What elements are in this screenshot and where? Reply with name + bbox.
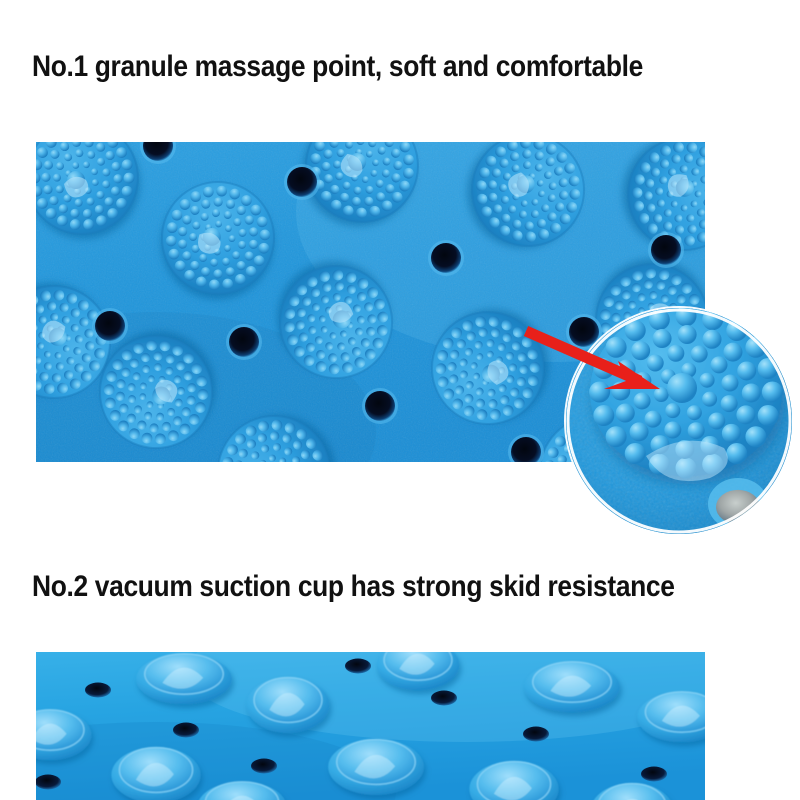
drain-hole bbox=[641, 767, 667, 782]
drain-hole bbox=[229, 327, 259, 357]
feature-2-heading: No.2 vacuum suction cup has strong skid … bbox=[32, 570, 675, 604]
suction-cup bbox=[524, 662, 620, 712]
drain-hole bbox=[173, 723, 199, 738]
suction-cup bbox=[136, 654, 232, 704]
suction-cup bbox=[328, 739, 424, 795]
drain-hole bbox=[36, 775, 61, 790]
drain-hole bbox=[523, 727, 549, 742]
feature-1-heading: No.1 granule massage point, soft and com… bbox=[32, 50, 643, 84]
drain-hole bbox=[345, 659, 371, 674]
infographic-page: No.1 granule massage point, soft and com… bbox=[0, 0, 800, 800]
drain-hole bbox=[651, 235, 681, 265]
drain-hole bbox=[85, 683, 111, 698]
drain-hole bbox=[569, 317, 599, 347]
feature-2-photo bbox=[36, 652, 705, 800]
drain-hole bbox=[431, 243, 461, 273]
drain-hole bbox=[287, 167, 317, 197]
drain-hole bbox=[251, 759, 277, 774]
suction-cup bbox=[247, 677, 330, 733]
drain-hole bbox=[95, 311, 125, 341]
drain-hole bbox=[431, 691, 457, 706]
drain-hole bbox=[365, 391, 395, 421]
magnifier-callout bbox=[566, 308, 792, 534]
